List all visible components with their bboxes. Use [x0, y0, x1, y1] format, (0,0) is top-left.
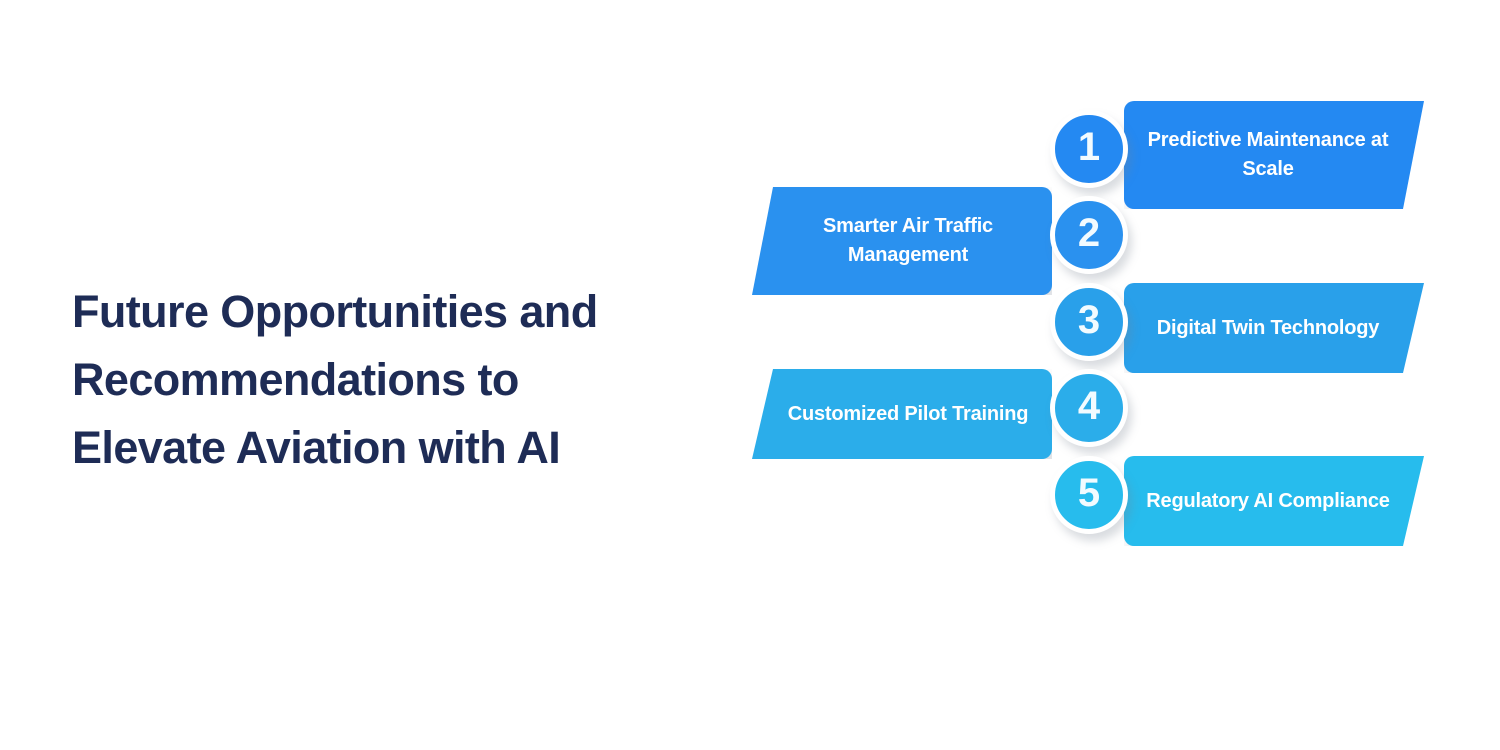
list-item: Predictive Maintenance at Scale 1: [740, 110, 1440, 200]
list-item-number-5: 5: [1078, 473, 1100, 513]
list-item: Customized Pilot Training 4: [740, 369, 1440, 459]
list-item-card-2[interactable]: Smarter Air Traffic Management: [752, 187, 1052, 295]
list-item-label-2: Smarter Air Traffic Management: [786, 212, 1030, 270]
list-item-label-4: Customized Pilot Training: [786, 400, 1030, 429]
list-item: Regulatory AI Compliance 5: [740, 456, 1440, 546]
list-item-number-3: 3: [1078, 300, 1100, 340]
list-item-card-3[interactable]: Digital Twin Technology: [1124, 283, 1424, 373]
list-item-number-badge-1[interactable]: 1: [1050, 110, 1128, 188]
list-item: Digital Twin Technology 3: [740, 283, 1440, 373]
list-item-label-5: Regulatory AI Compliance: [1146, 487, 1390, 516]
numbered-list: Predictive Maintenance at Scale 1 Smarte…: [740, 110, 1440, 600]
list-item-number-badge-2[interactable]: 2: [1050, 196, 1128, 274]
list-item-number-badge-4[interactable]: 4: [1050, 369, 1128, 447]
list-item-label-1: Predictive Maintenance at Scale: [1146, 126, 1390, 184]
list-item-number-2: 2: [1078, 213, 1100, 253]
page-title: Future Opportunities and Recommendations…: [72, 278, 712, 482]
list-item-card-4[interactable]: Customized Pilot Training: [752, 369, 1052, 459]
list-item-number-4: 4: [1078, 386, 1100, 426]
list-item-card-1[interactable]: Predictive Maintenance at Scale: [1124, 101, 1424, 209]
list-item-number-badge-3[interactable]: 3: [1050, 283, 1128, 361]
list-item-number-1: 1: [1078, 127, 1100, 167]
page-title-text: Future Opportunities and Recommendations…: [72, 278, 712, 482]
list-item: Smarter Air Traffic Management 2: [740, 196, 1440, 286]
list-item-card-5[interactable]: Regulatory AI Compliance: [1124, 456, 1424, 546]
infographic-canvas: Future Opportunities and Recommendations…: [0, 0, 1500, 750]
list-item-label-3: Digital Twin Technology: [1146, 314, 1390, 343]
list-item-number-badge-5[interactable]: 5: [1050, 456, 1128, 534]
